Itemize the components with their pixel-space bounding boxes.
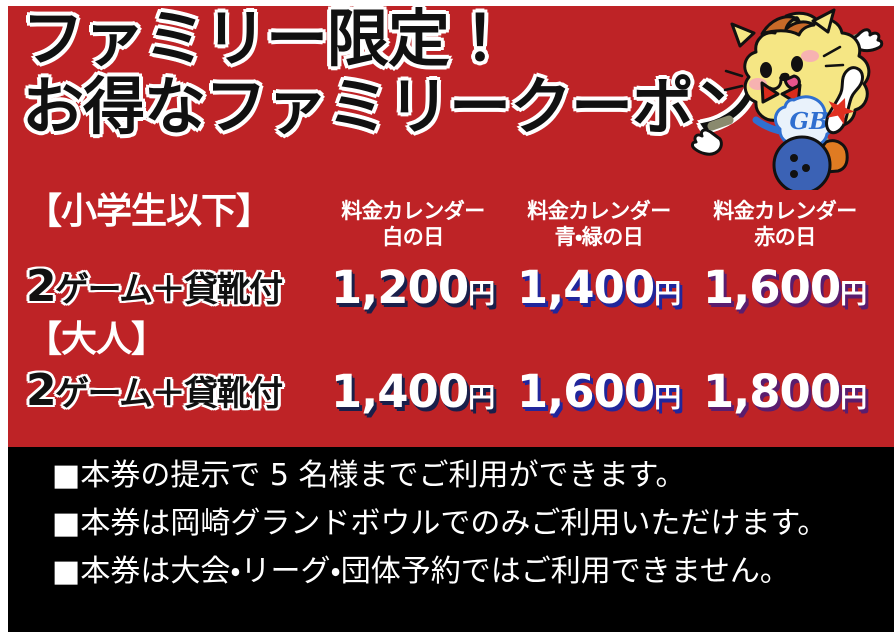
- adult-category-row: 【大人】: [0, 316, 894, 364]
- table-row: 2ゲーム＋貸靴付 1,200円 1,400円 1,600円: [0, 258, 894, 316]
- term-item: ■本券は大会・リーグ・団体予約ではご利用できません。: [52, 557, 894, 587]
- kids-category-row: 【小学生以下】: [0, 190, 894, 234]
- kids-category-cell: 【小学生以下】: [0, 193, 320, 231]
- kids-price-red-day: 1,600円: [692, 265, 878, 310]
- pricing-table: 料金カレンダー 白の日 料金カレンダー 青・緑の日 料金カレンダー 赤の日 【小…: [0, 186, 894, 441]
- kids-plan-description: ゲーム＋貸靴付: [55, 270, 281, 310]
- adult-price-blue-green-day-value: 1,600円: [517, 365, 681, 418]
- kids-price-white-day-value: 1,200円: [331, 261, 495, 314]
- adult-price-white-day-value: 1,400円: [331, 365, 495, 418]
- kids-price-blue-green-day: 1,400円: [506, 265, 692, 310]
- kids-plan-label: 2ゲーム＋貸靴付: [26, 269, 282, 310]
- coupon-title: ファミリー限定！ お得なファミリークーポン: [22, 8, 722, 138]
- terms-list: ■本券の提示で 5 名様までご利用ができます。 ■本券は岡崎グランドボウルでのみ…: [8, 447, 894, 632]
- kids-price-blue-green-day-unit: 円: [654, 279, 681, 310]
- adult-plan-game-count: 2: [26, 365, 55, 416]
- kids-price-blue-green-day-value: 1,400円: [517, 261, 681, 314]
- adult-category-label: 【大人】: [26, 319, 166, 360]
- adult-price-white-day-amount: 1,400: [331, 365, 468, 418]
- adult-plan-label: 2ゲーム＋貸靴付: [26, 373, 282, 414]
- term-item: ■本券は岡崎グランドボウルでのみご利用いただけます。: [52, 509, 894, 539]
- title-line-1: ファミリー限定！: [22, 8, 722, 70]
- adult-price-blue-green-day: 1,600円: [506, 369, 692, 414]
- kids-plan-game-count: 2: [26, 261, 55, 312]
- table-row: 2ゲーム＋貸靴付 1,400円 1,600円 1,800円: [0, 362, 894, 420]
- adult-price-white-day: 1,400円: [320, 369, 506, 414]
- adult-price-red-day: 1,800円: [692, 369, 878, 414]
- kids-price-white-day: 1,200円: [320, 265, 506, 310]
- kids-price-white-day-amount: 1,200: [331, 261, 468, 314]
- kids-plan-cell: 2ゲーム＋貸靴付: [0, 264, 320, 310]
- adult-price-blue-green-day-unit: 円: [654, 383, 681, 414]
- adult-price-red-day-value: 1,800円: [703, 365, 867, 418]
- adult-price-red-day-unit: 円: [840, 383, 867, 414]
- coupon-card: ファミリー限定！ お得なファミリークーポン: [0, 0, 894, 632]
- adult-category-cell: 【大人】: [0, 321, 320, 359]
- kids-price-red-day-value: 1,600円: [703, 261, 867, 314]
- adult-price-red-day-amount: 1,800: [703, 365, 840, 418]
- kids-price-white-day-unit: 円: [468, 279, 495, 310]
- adult-plan-cell: 2ゲーム＋貸靴付: [0, 368, 320, 414]
- kids-price-red-day-unit: 円: [840, 279, 867, 310]
- kids-price-red-day-amount: 1,600: [703, 261, 840, 314]
- kids-price-blue-green-day-amount: 1,400: [517, 261, 654, 314]
- kids-category-label: 【小学生以下】: [26, 191, 271, 232]
- adult-plan-description: ゲーム＋貸靴付: [55, 374, 281, 414]
- term-item: ■本券の提示で 5 名様までご利用ができます。: [52, 461, 894, 491]
- title-line-2: お得なファミリークーポン: [22, 76, 722, 138]
- adult-price-white-day-unit: 円: [468, 383, 495, 414]
- adult-price-blue-green-day-amount: 1,600: [517, 365, 654, 418]
